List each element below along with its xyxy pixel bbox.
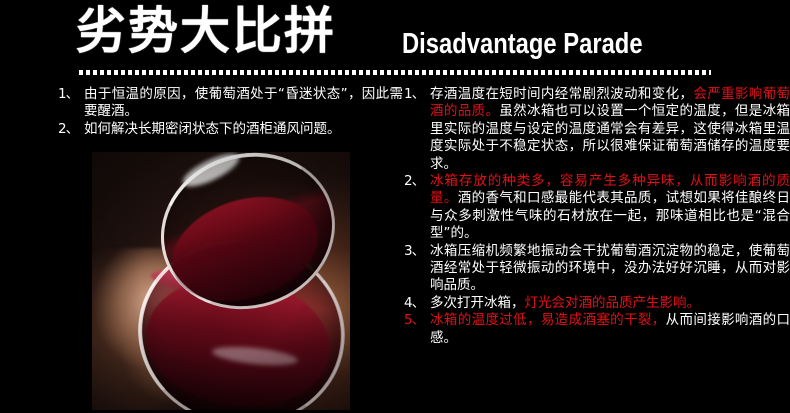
list-item-text: 由于恒温的原因，使葡萄酒处于“昏迷状态”，因此需要醒酒。 [84, 86, 403, 121]
list-item: 4、多次打开冰箱，灯光会对酒的品质产生影响。 [404, 295, 790, 312]
body-text: 存酒温度在短时间内经常剧烈波动和变化， [430, 86, 693, 102]
poster-header: 劣势大比拼 Disadvantage Parade [0, 0, 790, 82]
body-text: 由于恒温的原因，使葡萄酒处于“昏迷状态”，因此需要醒酒。 [84, 86, 403, 119]
list-item-text: 冰箱的温度过低，易造成酒塞的干裂，从而间接影响酒的口感。 [430, 312, 790, 347]
list-item-number: 4、 [404, 295, 430, 312]
list-item-text: 如何解决长期密闭状态下的酒柜通风问题。 [84, 121, 403, 138]
highlighted-text: 灯光会对酒的品质产生影响。 [525, 295, 701, 311]
highlighted-text: 冰箱的温度过低，易造成酒塞的干裂， [430, 312, 666, 328]
list-item-text: 冰箱存放的种类多，容易产生多种异味，从而影响酒的质量。酒的香气和口感最能代表其品… [430, 173, 790, 243]
body-text: 酒的香气和口感最能代表其品质，试想如果将佳酿终日与众多刺激性气味的石材放在一起，… [430, 190, 790, 241]
body-text: 多次打开冰箱， [430, 295, 525, 311]
list-item: 2、如何解决长期密闭状态下的酒柜通风问题。 [58, 121, 403, 138]
list-item-number: 2、 [404, 173, 430, 190]
right-text-column: 1、存酒温度在短时间内经常剧烈波动和变化，会严重影响葡萄酒的品质。虽然冰箱也可以… [404, 86, 790, 347]
list-item-text: 冰箱压缩机频繁地振动会干扰葡萄酒沉淀物的稳定，使葡萄酒经常处于轻微振动的环境中，… [430, 243, 790, 295]
dotted-divider [79, 70, 711, 75]
list-item-number: 1、 [58, 86, 84, 103]
list-item: 5、冰箱的温度过低，易造成酒塞的干裂，从而间接影响酒的口感。 [404, 312, 790, 347]
list-item: 1、由于恒温的原因，使葡萄酒处于“昏迷状态”，因此需要醒酒。 [58, 86, 403, 121]
body-text: 冰箱压缩机频繁地振动会干扰葡萄酒沉淀物的稳定，使葡萄酒经常处于轻微振动的环境中，… [430, 243, 790, 294]
wine-glasses-photo [92, 152, 350, 410]
list-item-number: 3、 [404, 243, 430, 260]
list-item-text: 存酒温度在短时间内经常剧烈波动和变化，会严重影响葡萄酒的品质。虽然冰箱也可以设置… [430, 86, 790, 173]
list-item-number: 5、 [404, 312, 430, 329]
left-text-column: 1、由于恒温的原因，使葡萄酒处于“昏迷状态”，因此需要醒酒。2、如何解决长期密闭… [58, 86, 403, 138]
body-text: 如何解决长期密闭状态下的酒柜通风问题。 [84, 121, 341, 137]
list-item: 1、存酒温度在短时间内经常剧烈波动和变化，会严重影响葡萄酒的品质。虽然冰箱也可以… [404, 86, 790, 173]
list-item: 3、冰箱压缩机频繁地振动会干扰葡萄酒沉淀物的稳定，使葡萄酒经常处于轻微振动的环境… [404, 243, 790, 295]
list-item-text: 多次打开冰箱，灯光会对酒的品质产生影响。 [430, 295, 790, 312]
poster-title-english: Disadvantage Parade [402, 28, 643, 60]
list-item-number: 2、 [58, 121, 84, 138]
list-item-number: 1、 [404, 86, 430, 103]
list-item: 2、冰箱存放的种类多，容易产生多种异味，从而影响酒的质量。酒的香气和口感最能代表… [404, 173, 790, 243]
poster-title-chinese: 劣势大比拼 [76, 2, 336, 60]
poster-root: 劣势大比拼 Disadvantage Parade 1、由于恒温的原因，使葡萄酒… [0, 0, 790, 413]
photo-vignette [92, 152, 350, 410]
